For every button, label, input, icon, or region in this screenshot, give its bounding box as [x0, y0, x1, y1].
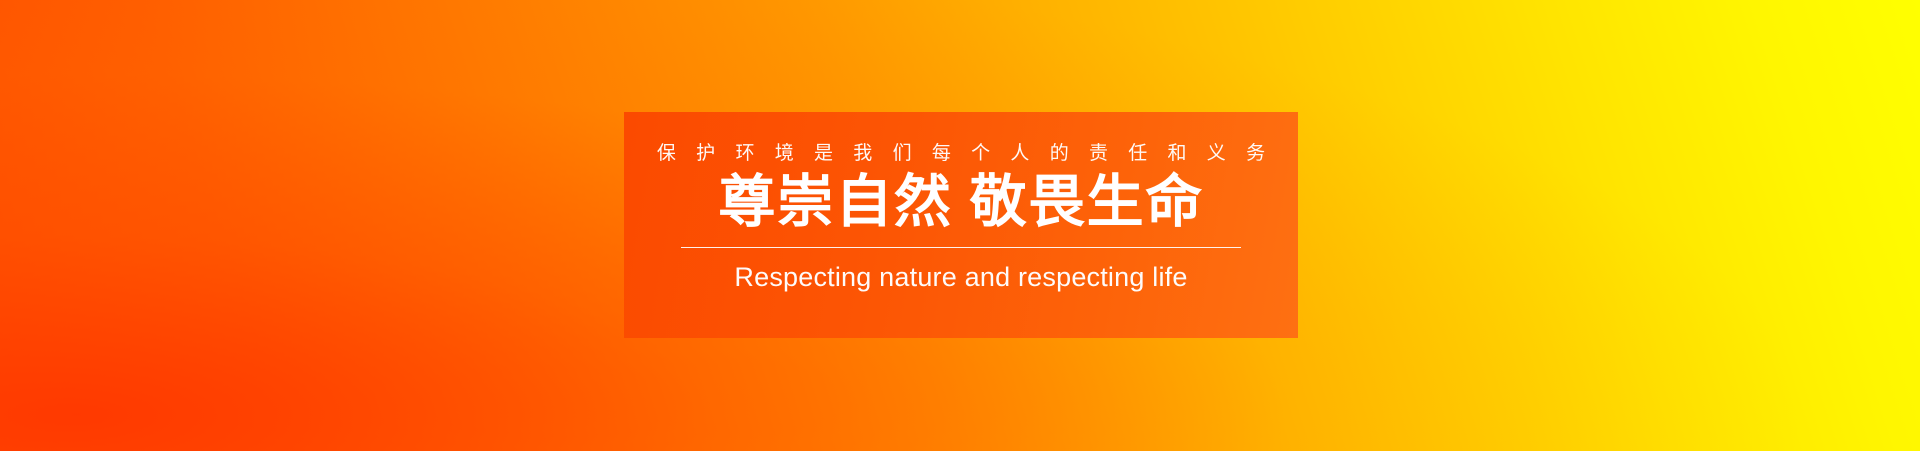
slogan-card: 保 护 环 境 是 我 们 每 个 人 的 责 任 和 义 务 尊崇自然 敬畏生… — [624, 112, 1298, 338]
card-divider-rule — [681, 247, 1241, 248]
card-headline-text: 尊崇自然 敬畏生命 — [718, 173, 1203, 233]
card-subline-text: Respecting nature and respecting life — [734, 263, 1187, 293]
card-eyebrow-text: 保 护 环 境 是 我 们 每 个 人 的 责 任 和 义 务 — [649, 144, 1272, 163]
environmental-banner: 保 护 环 境 是 我 们 每 个 人 的 责 任 和 义 务 尊崇自然 敬畏生… — [0, 0, 1920, 451]
